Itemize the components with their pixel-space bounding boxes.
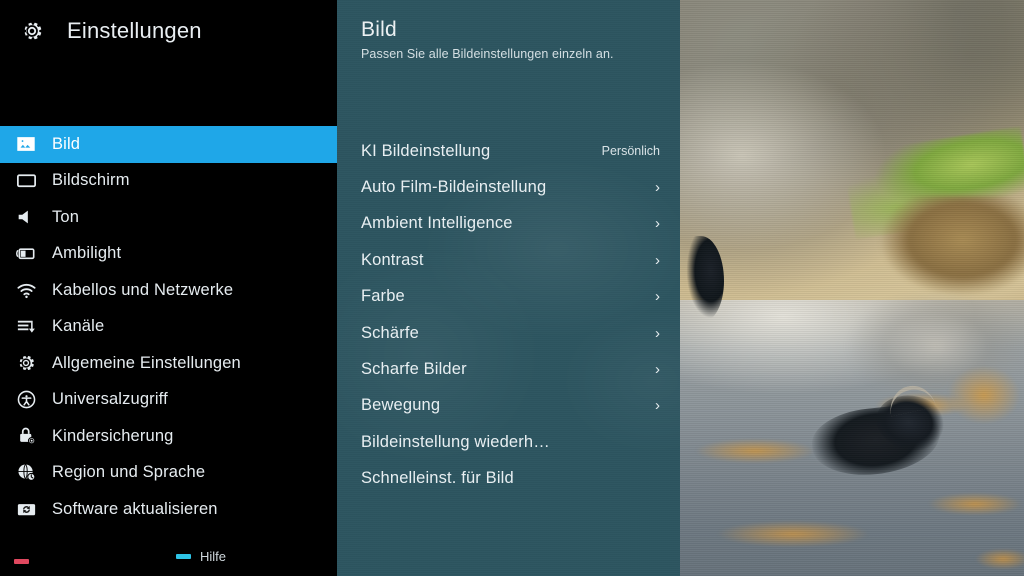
sidebar-item-label: Software aktualisieren	[52, 500, 218, 519]
ambilight-icon	[0, 242, 52, 265]
sidebar-item-ton[interactable]: Ton	[0, 199, 337, 236]
speaker-icon	[0, 206, 52, 228]
picture-options-list: KI Bildeinstellung Persönlich Auto Film-…	[337, 133, 680, 497]
chevron-right-icon: ›	[655, 289, 664, 304]
option-label: Kontrast	[361, 251, 424, 270]
sidebar-item-universalzugriff[interactable]: Universalzugriff	[0, 382, 337, 419]
option-schaerfe[interactable]: Schärfe ›	[337, 315, 680, 351]
option-farbe[interactable]: Farbe ›	[337, 279, 680, 315]
option-ki-bildeinstellung[interactable]: KI Bildeinstellung Persönlich	[337, 133, 680, 169]
option-label: KI Bildeinstellung	[361, 142, 490, 161]
video-foam-5	[916, 492, 1024, 516]
red-key-dash	[14, 559, 29, 564]
picture-icon	[0, 133, 52, 155]
live-tv-video[interactable]	[680, 0, 1024, 576]
gear-icon	[0, 352, 52, 374]
sidebar-item-software-aktualisieren[interactable]: Software aktualisieren	[0, 491, 337, 528]
sidebar-item-kanaele[interactable]: Kanäle	[0, 309, 337, 346]
panel-header: Bild Passen Sie alle Bildeinstellungen e…	[361, 18, 661, 61]
panel-title: Bild	[361, 18, 661, 42]
option-kontrast[interactable]: Kontrast ›	[337, 242, 680, 278]
chevron-right-icon: ›	[655, 398, 664, 413]
option-label: Bewegung	[361, 396, 440, 415]
sidebar-item-label: Bild	[52, 135, 80, 154]
display-icon	[0, 169, 52, 192]
sidebar-item-label: Kabellos und Netzwerke	[52, 281, 233, 300]
option-scharfe-bilder[interactable]: Scharfe Bilder ›	[337, 351, 680, 387]
blue-key-dash	[176, 554, 191, 559]
page-title: Einstellungen	[67, 18, 202, 44]
video-foam-3	[680, 438, 830, 464]
channels-icon	[0, 315, 52, 338]
video-riverbank	[880, 196, 1024, 306]
option-label: Scharfe Bilder	[361, 360, 467, 379]
option-auto-film-bildeinstellung[interactable]: Auto Film-Bildeinstellung ›	[337, 169, 680, 205]
gear-icon	[12, 18, 52, 44]
sidebar-item-kabellos-und-netzwerke[interactable]: Kabellos und Netzwerke	[0, 272, 337, 309]
option-label: Ambient Intelligence	[361, 214, 513, 233]
chevron-right-icon: ›	[655, 253, 664, 268]
option-label: Schnelleinst. für Bild	[361, 469, 514, 488]
chevron-right-icon: ›	[655, 326, 664, 341]
sidebar-item-label: Ton	[52, 208, 79, 227]
sidebar-item-label: Universalzugriff	[52, 390, 168, 409]
sidebar-item-label: Bildschirm	[52, 171, 130, 190]
option-label: Bildeinstellung wiederh…	[361, 433, 550, 452]
settings-sidebar: Einstellungen Bild	[0, 0, 337, 576]
option-label: Schärfe	[361, 324, 419, 343]
blue-key-label: Hilfe	[200, 549, 226, 564]
video-foam-4	[698, 520, 888, 548]
software-update-icon	[0, 498, 52, 521]
panel-subtitle: Passen Sie alle Bildeinstellungen einzel…	[361, 47, 661, 61]
tv-settings-screen: Einstellungen Bild	[0, 0, 1024, 576]
sidebar-item-label: Kindersicherung	[52, 427, 174, 446]
chevron-right-icon: ›	[655, 180, 664, 195]
option-bildeinstellung-wiederherstellen[interactable]: Bildeinstellung wiederh…	[337, 424, 680, 460]
sidebar-item-allgemeine-einstellungen[interactable]: Allgemeine Einstellungen	[0, 345, 337, 382]
chevron-right-icon: ›	[655, 216, 664, 231]
wifi-icon	[0, 279, 52, 302]
option-label: Farbe	[361, 287, 405, 306]
color-key-hint-bar: Hilfe	[0, 536, 337, 576]
option-bewegung[interactable]: Bewegung ›	[337, 388, 680, 424]
sidebar-item-label: Region und Sprache	[52, 463, 205, 482]
accessibility-icon	[0, 388, 52, 411]
lock-icon	[0, 425, 52, 448]
sidebar-item-region-und-sprache[interactable]: Region und Sprache	[0, 455, 337, 492]
sidebar-item-ambilight[interactable]: Ambilight	[0, 236, 337, 273]
sidebar-item-bildschirm[interactable]: Bildschirm	[0, 163, 337, 200]
video-wildebeest-upper	[680, 236, 724, 322]
option-schnelleinstellung-fuer-bild[interactable]: Schnelleinst. für Bild	[337, 461, 680, 497]
video-foam-2	[936, 360, 1024, 430]
globe-clock-icon	[0, 461, 52, 484]
option-value: Persönlich	[602, 144, 664, 158]
picture-settings-panel: Bild Passen Sie alle Bildeinstellungen e…	[337, 0, 680, 576]
sidebar-item-label: Ambilight	[52, 244, 121, 263]
sidebar-item-label: Allgemeine Einstellungen	[52, 354, 241, 373]
option-label: Auto Film-Bildeinstellung	[361, 178, 546, 197]
chevron-right-icon: ›	[655, 362, 664, 377]
blue-key-hint[interactable]: Hilfe	[176, 549, 226, 564]
sidebar-item-kindersicherung[interactable]: Kindersicherung	[0, 418, 337, 455]
sidebar-menu: Bild Bildschirm Ton	[0, 126, 337, 528]
option-ambient-intelligence[interactable]: Ambient Intelligence ›	[337, 206, 680, 242]
red-key-hint[interactable]	[14, 559, 38, 564]
sidebar-item-label: Kanäle	[52, 317, 104, 336]
sidebar-item-bild[interactable]: Bild	[0, 126, 337, 163]
sidebar-header: Einstellungen	[0, 0, 337, 62]
